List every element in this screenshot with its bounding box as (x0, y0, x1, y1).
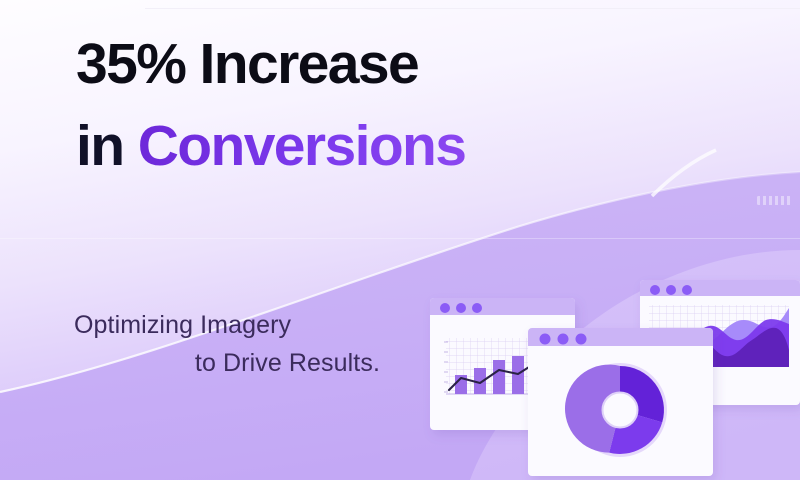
donut-window-dots (540, 334, 587, 345)
headline-word-conversions: Conversions (138, 114, 466, 178)
window-dot-icon (666, 285, 676, 295)
window-dot-icon (440, 303, 450, 313)
subtitle: Optimizing Imagery to Drive Results. (74, 306, 380, 382)
marketing-banner: 35% Increase in Conversions Optimizing I… (0, 0, 800, 480)
headline-line-1: 35% Increase (76, 36, 596, 93)
subtitle-line-1: Optimizing Imagery (74, 306, 380, 344)
window-dot-icon (558, 334, 569, 345)
faint-watermark-artifact (757, 196, 793, 205)
window-dot-icon (540, 334, 551, 345)
background-hairline-mid (0, 238, 800, 239)
window-dot-icon (472, 303, 482, 313)
headline: 35% Increase in Conversions (76, 36, 596, 175)
donut-window-titlebar (528, 328, 713, 346)
bar-item (493, 360, 505, 394)
window-dot-icon (456, 303, 466, 313)
window-dot-icon (650, 285, 660, 295)
window-dot-icon (576, 334, 587, 345)
subtitle-line-2: to Drive Results. (74, 344, 380, 382)
headline-line-2: in Conversions (76, 118, 596, 175)
headline-word-in: in (76, 114, 138, 178)
window-dot-icon (682, 285, 692, 295)
dashboard-illustration (400, 250, 800, 480)
area-window-dots (650, 285, 692, 295)
bar-window-dots (440, 303, 482, 313)
donut-chart-window (528, 328, 713, 476)
bar-window-titlebar (430, 298, 575, 315)
background-hairline-top (145, 8, 800, 9)
area-window-titlebar (640, 280, 800, 296)
